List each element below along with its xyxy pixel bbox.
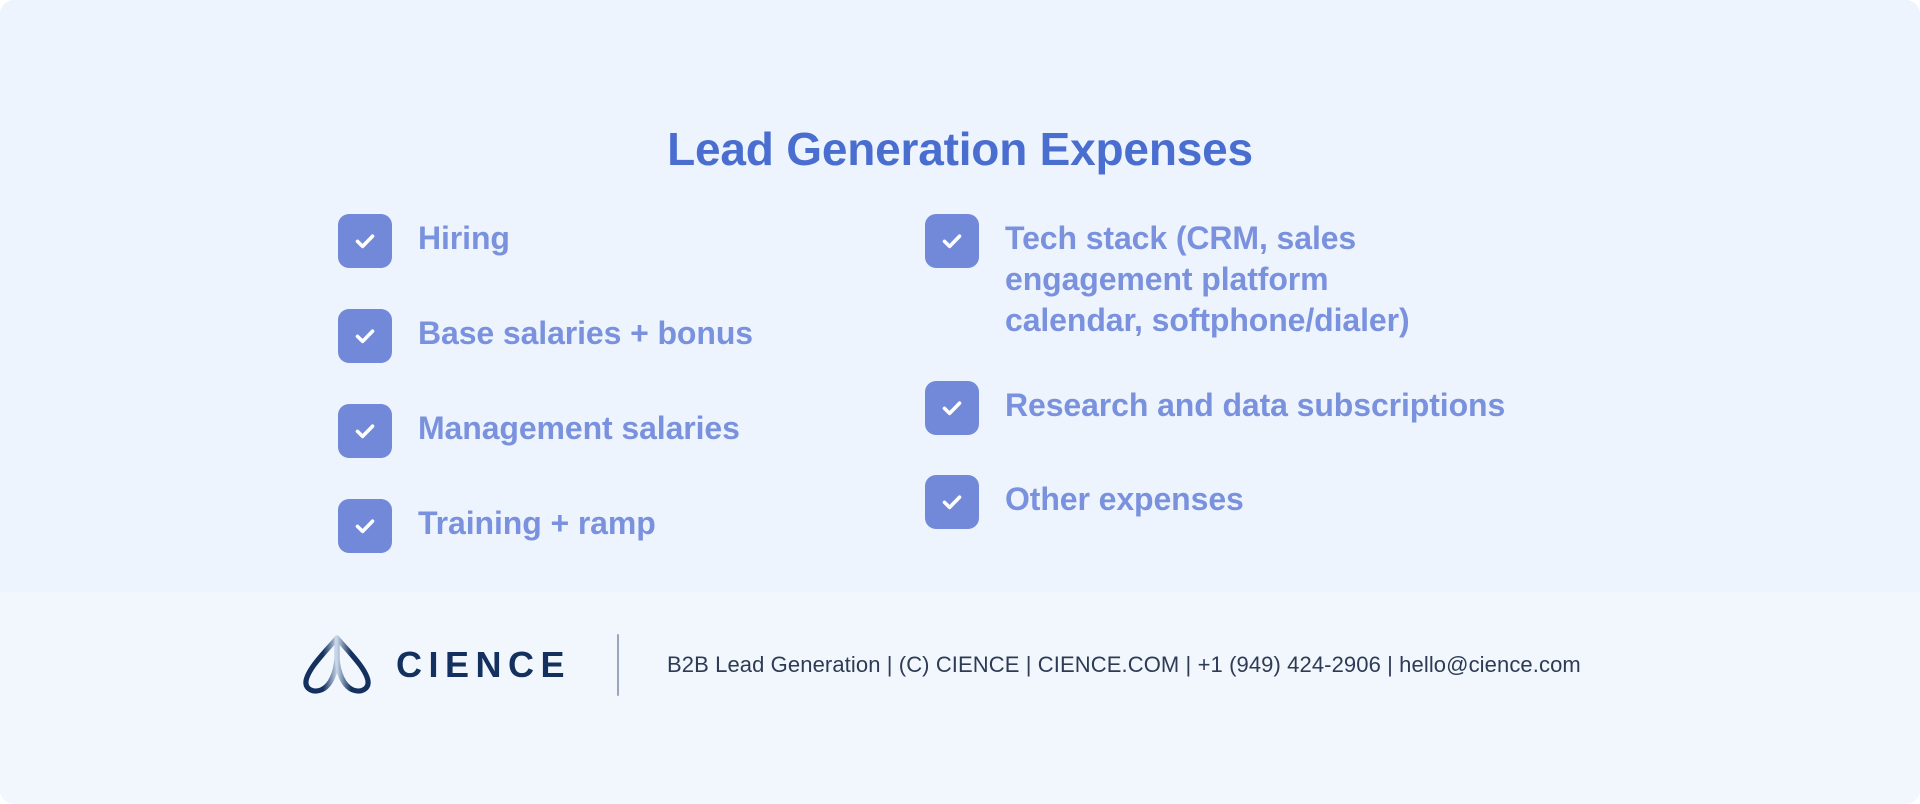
checkbox-checked[interactable] — [338, 214, 392, 268]
footer-band — [0, 592, 1920, 804]
checkbox-checked[interactable] — [925, 381, 979, 435]
checklist-left-column: Hiring Base salaries + bonus Management … — [338, 212, 858, 592]
checkbox-checked[interactable] — [338, 309, 392, 363]
footer-contact-text: B2B Lead Generation | (C) CIENCE | CIENC… — [667, 652, 1581, 678]
list-item[interactable]: Hiring — [338, 212, 858, 268]
footer: CIENCE B2B Lead Generation | (C) CIENCE … — [300, 634, 1581, 696]
list-item-label: Tech stack (CRM, sales engagement platfo… — [1005, 212, 1410, 341]
checkbox-checked[interactable] — [925, 214, 979, 268]
list-item[interactable]: Tech stack (CRM, sales engagement platfo… — [925, 212, 1625, 341]
list-item[interactable]: Management salaries — [338, 402, 858, 458]
slide-canvas: Lead Generation Expenses Hiring Base sal… — [0, 0, 1920, 804]
list-item-label: Training + ramp — [418, 497, 656, 544]
list-item[interactable]: Other expenses — [925, 473, 1625, 529]
list-item[interactable]: Base salaries + bonus — [338, 307, 858, 363]
cience-logo[interactable]: CIENCE — [300, 634, 571, 696]
checkbox-checked[interactable] — [338, 499, 392, 553]
list-item-label: Other expenses — [1005, 473, 1244, 520]
checklist-right-column: Tech stack (CRM, sales engagement platfo… — [925, 212, 1625, 567]
cience-arch-logo-icon — [300, 634, 374, 696]
checkbox-checked[interactable] — [925, 475, 979, 529]
list-item-label: Management salaries — [418, 402, 740, 449]
list-item-label: Research and data subscriptions — [1005, 379, 1505, 426]
footer-divider — [617, 634, 619, 696]
cience-wordmark: CIENCE — [396, 647, 571, 683]
list-item-label: Hiring — [418, 212, 510, 259]
checkbox-checked[interactable] — [338, 404, 392, 458]
list-item[interactable]: Research and data subscriptions — [925, 379, 1625, 435]
page-title: Lead Generation Expenses — [0, 126, 1920, 172]
list-item-label: Base salaries + bonus — [418, 307, 753, 354]
list-item[interactable]: Training + ramp — [338, 497, 858, 553]
